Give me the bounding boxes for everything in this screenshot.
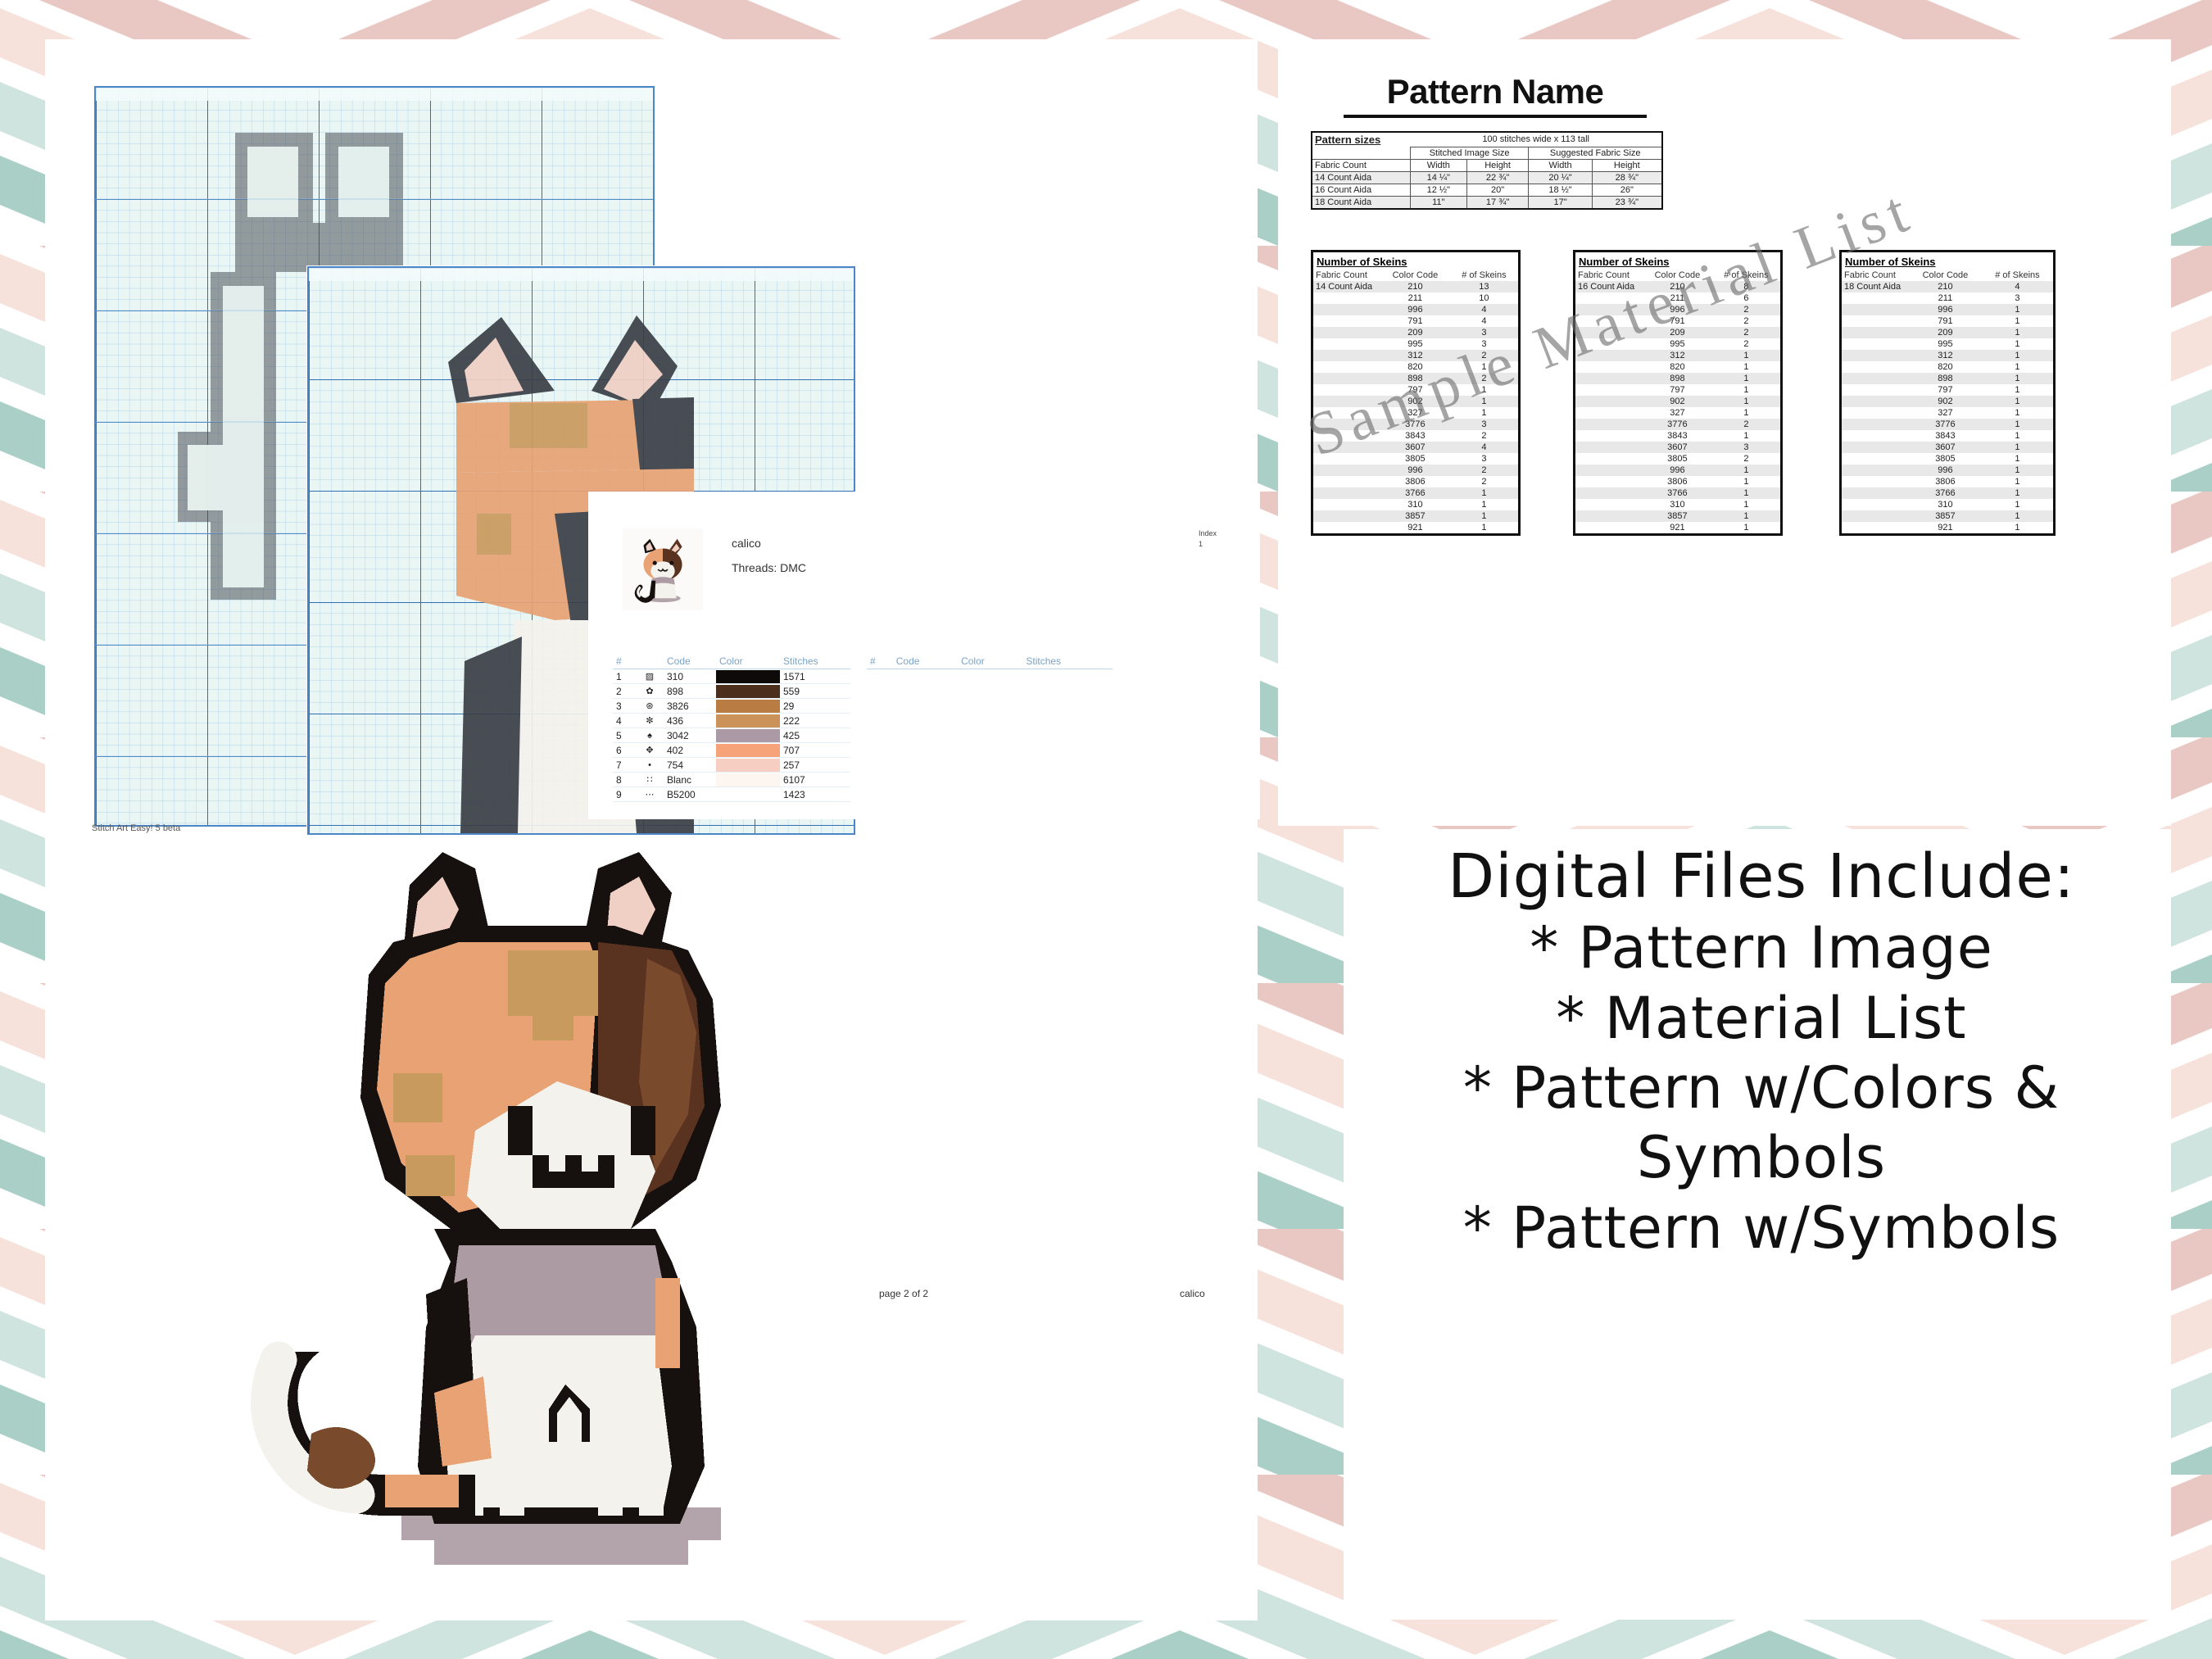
- skeins-cell-fabric: 14 Count Aida: [1313, 281, 1380, 292]
- skeins-cell-count: 1: [1450, 487, 1518, 499]
- skeins-cell-fabric: [1575, 384, 1643, 396]
- skeins-table-18-count: Number of SkeinsFabric CountColor Code# …: [1839, 250, 2056, 536]
- page-title: Pattern Name: [1344, 72, 1647, 118]
- skeins-cell-code: 3607: [1909, 442, 1982, 453]
- skeins-cell-code: 898: [1643, 373, 1712, 384]
- skeins-cell-count: 2: [1712, 327, 1780, 338]
- sizes-cell: 20 ¼": [1529, 171, 1592, 184]
- skeins-cell-fabric: [1842, 292, 1909, 304]
- skeins-row: 37661: [1842, 487, 2053, 499]
- skeins-row: 37661: [1313, 487, 1518, 499]
- skeins-cell-code: 3776: [1909, 419, 1982, 430]
- skeins-row: 8981: [1842, 373, 2053, 384]
- legend-row-symbol-circled-flower-icon: ⊛: [636, 699, 664, 714]
- legend-row-code: B5200: [664, 787, 716, 802]
- legend-row-stitches: 1571: [780, 669, 850, 684]
- skeins-cell-fabric: [1842, 327, 1909, 338]
- skeins-row: 9951: [1842, 338, 2053, 350]
- thread-legend-table: # Code Color Stitches 1▨31015712✿8985593…: [613, 654, 850, 802]
- legend-row: 6✥402707: [613, 743, 850, 758]
- skeins-row: 37761: [1842, 419, 2053, 430]
- skeins-cell-code: 327: [1643, 407, 1712, 419]
- legend-row-stitches: 29: [780, 699, 850, 714]
- skeins-cell-fabric: [1575, 361, 1643, 373]
- skeins-cell-code: 3766: [1909, 487, 1982, 499]
- skeins-cell-count: 8: [1712, 281, 1780, 292]
- legend-row-swatch: [716, 743, 780, 758]
- skeins-cell-count: 1: [1712, 350, 1780, 361]
- skeins-cell-fabric: [1842, 499, 1909, 510]
- legend-row-symbol-dot-icon: •: [636, 758, 664, 773]
- skeins-row: 3271: [1575, 407, 1780, 419]
- skeins-cell-fabric: [1575, 407, 1643, 419]
- skeins-cell-count: 1: [1712, 522, 1780, 533]
- skeins-cell-count: 1: [1982, 304, 2053, 315]
- calico-thumbnail-svg: [623, 528, 703, 610]
- skeins-cell-fabric: [1313, 350, 1380, 361]
- skeins-row: 7914: [1313, 315, 1518, 327]
- skeins-col-count: # of Skeins: [1982, 270, 2053, 281]
- sizes-group-row: Stitched Image Size Suggested Fabric Siz…: [1312, 147, 1662, 159]
- skeins-cell-fabric: [1313, 292, 1380, 304]
- skeins-cell-fabric: [1842, 350, 1909, 361]
- legend-row-number: 8: [613, 773, 636, 787]
- skeins-cell-fabric: [1313, 499, 1380, 510]
- skeins-row: 9021: [1313, 396, 1518, 407]
- legend-row-number: 2: [613, 684, 636, 699]
- skeins-cell-code: 3843: [1380, 430, 1450, 442]
- legend-row-number: 6: [613, 743, 636, 758]
- digital-files-panel: Digital Files Include: * Pattern Image *…: [1360, 840, 2163, 1263]
- skeins-cell-fabric: [1313, 384, 1380, 396]
- skeins-cell-code: 3857: [1909, 510, 1982, 522]
- skeins-cell-fabric: [1575, 476, 1643, 487]
- skeins-cell-fabric: [1842, 419, 1909, 430]
- skeins-row: 38431: [1842, 430, 2053, 442]
- legend-row-swatch: [716, 773, 780, 787]
- skeins-cell-count: 4: [1450, 442, 1518, 453]
- skeins-cell-code: 3766: [1380, 487, 1450, 499]
- skeins-cell-code: 3766: [1643, 487, 1712, 499]
- skeins-row: 38571: [1313, 510, 1518, 522]
- skeins-cell-fabric: [1313, 510, 1380, 522]
- skeins-header-row: Fabric CountColor Code# of Skeins: [1313, 270, 1518, 281]
- skeins-title: Number of Skeins: [1575, 252, 1780, 270]
- skeins-row: 9021: [1575, 396, 1780, 407]
- skeins-cell-code: 3607: [1380, 442, 1450, 453]
- skeins-cell-fabric: [1313, 430, 1380, 442]
- skeins-cell-code: 3805: [1643, 453, 1712, 465]
- skeins-cell-fabric: [1575, 510, 1643, 522]
- skeins-row: 3271: [1313, 407, 1518, 419]
- skeins-row: 9211: [1575, 522, 1780, 533]
- skeins-cell-fabric: [1842, 407, 1909, 419]
- sizes-cell: 14 ¼": [1410, 171, 1466, 184]
- skeins-row: 9211: [1842, 522, 2053, 533]
- skeins-cell-code: 791: [1380, 315, 1450, 327]
- skeins-cell-fabric: [1842, 396, 1909, 407]
- skeins-cell-count: 1: [1982, 338, 2053, 350]
- skeins-cell-code: 209: [1380, 327, 1450, 338]
- skeins-cell-fabric: [1575, 419, 1643, 430]
- skeins-row: 38571: [1842, 510, 2053, 522]
- legend-row-code: Blanc: [664, 773, 716, 787]
- skeins-cell-code: 3843: [1909, 430, 1982, 442]
- cat-art-svg: [205, 852, 803, 1589]
- skeins-cell-code: 898: [1380, 373, 1450, 384]
- skeins-cell-code: 996: [1909, 304, 1982, 315]
- sizes-cell: 18 Count Aida: [1312, 196, 1410, 209]
- legend-row-code: 436: [664, 714, 716, 728]
- skeins-cell-count: 2: [1712, 304, 1780, 315]
- skeins-cell-fabric: [1575, 465, 1643, 476]
- legend-row-stitches: 1423: [780, 787, 850, 802]
- skeins-cell-count: 3: [1982, 292, 2053, 304]
- skeins-cell-code: 820: [1909, 361, 1982, 373]
- skeins-cell-fabric: [1842, 315, 1909, 327]
- legend-row-number: 5: [613, 728, 636, 743]
- skeins-row: 8982: [1313, 373, 1518, 384]
- skeins-row: 2091: [1842, 327, 2053, 338]
- skeins-cell-fabric: [1842, 510, 1909, 522]
- skeins-row: 37762: [1575, 419, 1780, 430]
- skeins-col-code: Color Code: [1380, 270, 1450, 281]
- thread-legend-header-2: # Code Color Stitches: [867, 654, 1113, 669]
- skeins-row: 9962: [1575, 304, 1780, 315]
- skeins-cell-count: 1: [1982, 327, 2053, 338]
- skeins-title: Number of Skeins: [1842, 252, 2053, 270]
- skeins-cell-count: 2: [1712, 453, 1780, 465]
- skeins-row: 2113: [1842, 292, 2053, 304]
- legend-row: 3⊛382629: [613, 699, 850, 714]
- legend-col-stitches: Stitches: [780, 654, 850, 669]
- skeins-table-14-count: Number of SkeinsFabric CountColor Code# …: [1311, 250, 1521, 536]
- skeins-cell-fabric: [1313, 304, 1380, 315]
- sizes-cell: 17 ¾": [1466, 196, 1529, 209]
- legend2-col-number: #: [867, 654, 893, 669]
- skeins-row: 38062: [1313, 476, 1518, 487]
- sizes-col-height-2: Height: [1592, 159, 1662, 171]
- skeins-col-fabric: Fabric Count: [1313, 270, 1380, 281]
- skeins-cell-fabric: [1575, 453, 1643, 465]
- skeins-col-code: Color Code: [1643, 270, 1712, 281]
- skeins-cell-fabric: [1842, 361, 1909, 373]
- skeins-cell-code: 797: [1909, 384, 1982, 396]
- skeins-cell-code: 211: [1909, 292, 1982, 304]
- legend-index: Index 1: [1199, 528, 1217, 550]
- legend-row-number: 1: [613, 669, 636, 684]
- skeins-cell-count: 3: [1450, 338, 1518, 350]
- skeins-cell-code: 3857: [1380, 510, 1450, 522]
- legend-col-number: #: [613, 654, 636, 669]
- skeins-cell-fabric: [1575, 499, 1643, 510]
- skeins-cell-code: 3776: [1380, 419, 1450, 430]
- skeins-cell-count: 1: [1712, 499, 1780, 510]
- page-name-footer: calico: [1180, 1288, 1205, 1299]
- skeins-cell-count: 1: [1450, 510, 1518, 522]
- skeins-cell-fabric: [1313, 315, 1380, 327]
- legend-row-swatch: [716, 699, 780, 714]
- legend-row-stitches: 425: [780, 728, 850, 743]
- skeins-cell-code: 820: [1380, 361, 1450, 373]
- skeins-row: 36074: [1313, 442, 1518, 453]
- skeins-cell-fabric: [1842, 476, 1909, 487]
- skeins-cell-count: 1: [1712, 510, 1780, 522]
- skeins-cell-count: 1: [1982, 350, 2053, 361]
- skeins-cell-code: 310: [1909, 499, 1982, 510]
- skeins-header-row: Fabric CountColor Code# of Skeins: [1575, 270, 1780, 281]
- legend-threads-label: Threads: DMC: [732, 561, 806, 574]
- skeins-row: 38061: [1575, 476, 1780, 487]
- legend-row-symbol-double-dot-icon: ∷: [636, 773, 664, 787]
- legend-row-code: 402: [664, 743, 716, 758]
- thread-legend-body: 1▨31015712✿8985593⊛3826294✼4362225♠30424…: [613, 669, 850, 802]
- skeins-cell-code: 902: [1380, 396, 1450, 407]
- skeins-cell-count: 1: [1982, 361, 2053, 373]
- skeins-row: 8981: [1575, 373, 1780, 384]
- skeins-cell-code: 327: [1380, 407, 1450, 419]
- skeins-cell-code: 210: [1643, 281, 1712, 292]
- pattern-sizes-body: 14 Count Aida14 ¼"22 ¾"20 ¼"28 ¾"16 Coun…: [1312, 171, 1662, 209]
- skeins-cell-code: 996: [1643, 304, 1712, 315]
- skeins-cell-fabric: [1313, 453, 1380, 465]
- skeins-cell-count: 1: [1982, 315, 2053, 327]
- skeins-col-count: # of Skeins: [1450, 270, 1518, 281]
- skeins-row: 7971: [1313, 384, 1518, 396]
- skeins-cell-count: 6: [1712, 292, 1780, 304]
- skeins-cell-count: 1: [1982, 419, 2053, 430]
- skeins-row: 3121: [1575, 350, 1780, 361]
- sizes-caption: Pattern sizes: [1312, 132, 1410, 147]
- skeins-cell-code: 797: [1380, 384, 1450, 396]
- legend-row-symbol-checker-square-icon: ▨: [636, 669, 664, 684]
- skeins-cell-code: 791: [1909, 315, 1982, 327]
- skeins-cell-count: 1: [1982, 476, 2053, 487]
- skeins-col-count: # of Skeins: [1712, 270, 1780, 281]
- skeins-cell-fabric: [1842, 373, 1909, 384]
- skeins-cell-fabric: [1575, 373, 1643, 384]
- legend-row: 4✼436222: [613, 714, 850, 728]
- skeins-col-fabric: Fabric Count: [1575, 270, 1643, 281]
- legend-row-swatch: [716, 758, 780, 773]
- skeins-cell-code: 996: [1380, 465, 1450, 476]
- legend-row-swatch: [716, 714, 780, 728]
- legend-row-stitches: 222: [780, 714, 850, 728]
- skeins-cell-code: 312: [1909, 350, 1982, 361]
- skeins-cell-count: 1: [1712, 407, 1780, 419]
- legend2-col-stitches: Stitches: [1022, 654, 1113, 669]
- skeins-row: 9952: [1575, 338, 1780, 350]
- skeins-cell-count: 1: [1982, 487, 2053, 499]
- skeins-row: 38432: [1313, 430, 1518, 442]
- skeins-cell-code: 995: [1909, 338, 1982, 350]
- legend-col-color: Color: [716, 654, 780, 669]
- skeins-cell-code: 921: [1909, 522, 1982, 533]
- legend-row-swatch: [716, 787, 780, 802]
- skeins-cell-count: 4: [1450, 304, 1518, 315]
- sizes-cell: 23 ¾": [1592, 196, 1662, 209]
- legend-row-code: 3826: [664, 699, 716, 714]
- skeins-cell-count: 3: [1450, 419, 1518, 430]
- skeins-cell-fabric: [1313, 407, 1380, 419]
- legend-row-number: 9: [613, 787, 636, 802]
- skeins-cell-fabric: [1842, 384, 1909, 396]
- skeins-cell-fabric: [1313, 522, 1380, 533]
- skeins-row: 3122: [1313, 350, 1518, 361]
- files-item-pattern-symbols: * Pattern w/Symbols: [1360, 1194, 2163, 1263]
- sizes-cell: 20": [1466, 184, 1529, 196]
- legend2-col-color: Color: [958, 654, 1022, 669]
- skeins-cell-code: 996: [1909, 465, 1982, 476]
- skeins-row: 16 Count Aida2108: [1575, 281, 1780, 292]
- skeins-cell-code: 3857: [1643, 510, 1712, 522]
- skeins-cell-fabric: 18 Count Aida: [1842, 281, 1909, 292]
- sizes-row: 14 Count Aida14 ¼"22 ¾"20 ¼"28 ¾": [1312, 171, 1662, 184]
- legend-row: 2✿898559: [613, 684, 850, 699]
- software-note: Stitch Art Easy! 5 beta: [92, 823, 180, 833]
- sizes-cell: 22 ¾": [1466, 171, 1529, 184]
- skeins-cell-count: 1: [1712, 384, 1780, 396]
- legend-row: 5♠3042425: [613, 728, 850, 743]
- sizes-column-row: Fabric Count Width Height Width Height: [1312, 159, 1662, 171]
- skeins-cell-count: 1: [1982, 396, 2053, 407]
- sizes-cell: 14 Count Aida: [1312, 171, 1410, 184]
- skeins-cell-count: 3: [1450, 453, 1518, 465]
- skeins-cell-count: 1: [1712, 476, 1780, 487]
- sizes-cell: 28 ¾": [1592, 171, 1662, 184]
- skeins-cell-code: 3806: [1909, 476, 1982, 487]
- sizes-cell: 12 ½": [1410, 184, 1466, 196]
- skeins-table-16-count: Number of SkeinsFabric CountColor Code# …: [1573, 250, 1783, 536]
- skeins-cell-code: 210: [1380, 281, 1450, 292]
- skeins-row: 7911: [1842, 315, 2053, 327]
- skeins-row: 2116: [1575, 292, 1780, 304]
- files-heading: Digital Files Include:: [1360, 840, 2163, 913]
- legend2-col-code: Code: [893, 654, 958, 669]
- skeins-cell-fabric: 16 Count Aida: [1575, 281, 1643, 292]
- skeins-cell-fabric: [1842, 465, 1909, 476]
- pattern-thumbnail: [623, 528, 703, 610]
- skeins-cell-fabric: [1575, 350, 1643, 361]
- skeins-cell-code: 3805: [1380, 453, 1450, 465]
- skeins-cell-code: 820: [1643, 361, 1712, 373]
- skeins-row: 21110: [1313, 292, 1518, 304]
- skeins-cell-count: 1: [1712, 430, 1780, 442]
- skeins-cell-count: 2: [1712, 338, 1780, 350]
- skeins-cell-code: 921: [1380, 522, 1450, 533]
- pattern-sizes-table: Pattern sizes 100 stitches wide x 113 ta…: [1311, 131, 1663, 210]
- legend-row-code: 898: [664, 684, 716, 699]
- skeins-row: 36073: [1575, 442, 1780, 453]
- calico-cat-pixel-art: [205, 852, 803, 1589]
- skeins-cell-fabric: [1575, 304, 1643, 315]
- skeins-row: 9964: [1313, 304, 1518, 315]
- skeins-cell-count: 1: [1450, 361, 1518, 373]
- skeins-cell-count: 1: [1712, 361, 1780, 373]
- skeins-row: 38051: [1842, 453, 2053, 465]
- legend-row-symbol-bowtie-icon: ✥: [636, 743, 664, 758]
- legend-row-symbol-clover-icon: ✿: [636, 684, 664, 699]
- skeins-cell-fabric: [1313, 465, 1380, 476]
- skeins-cell-fabric: [1313, 338, 1380, 350]
- sizes-col-height-1: Height: [1466, 159, 1529, 171]
- skeins-cell-fabric: [1842, 453, 1909, 465]
- legend-col-code: Code: [664, 654, 716, 669]
- page-number-footer: page 2 of 2: [879, 1288, 928, 1299]
- skeins-cell-code: 996: [1643, 465, 1712, 476]
- skeins-cell-fabric: [1575, 315, 1643, 327]
- sizes-cell: 26": [1592, 184, 1662, 196]
- skeins-row: 37661: [1575, 487, 1780, 499]
- skeins-cell-count: 1: [1450, 407, 1518, 419]
- skeins-cell-count: 1: [1982, 510, 2053, 522]
- skeins-row: 8201: [1313, 361, 1518, 373]
- skeins-cell-code: 312: [1380, 350, 1450, 361]
- skeins-cell-code: 210: [1909, 281, 1982, 292]
- skeins-cell-count: 1: [1712, 373, 1780, 384]
- skeins-row: 38053: [1313, 453, 1518, 465]
- sizes-col-width-1: Width: [1410, 159, 1466, 171]
- legend-pattern-name: calico: [732, 537, 761, 550]
- skeins-cell-code: 3776: [1643, 419, 1712, 430]
- skeins-row: 3101: [1575, 499, 1780, 510]
- skeins-cell-code: 209: [1643, 327, 1712, 338]
- skeins-row: 8201: [1842, 361, 2053, 373]
- skeins-row: 37763: [1313, 419, 1518, 430]
- skeins-cell-code: 211: [1643, 292, 1712, 304]
- legend-row-swatch: [716, 728, 780, 743]
- skeins-cell-count: 2: [1450, 476, 1518, 487]
- legend-row-code: 754: [664, 758, 716, 773]
- sizes-group-stitched: Stitched Image Size: [1410, 147, 1529, 159]
- legend-row-symbol-triple-dot-icon: ⋯: [636, 787, 664, 802]
- skeins-cell-count: 3: [1712, 442, 1780, 453]
- legend-row-symbol-star-burst-icon: ✼: [636, 714, 664, 728]
- skeins-header-row: Fabric CountColor Code# of Skeins: [1842, 270, 2053, 281]
- legend-row-swatch: [716, 669, 780, 684]
- skeins-cell-code: 3806: [1380, 476, 1450, 487]
- skeins-cell-fabric: [1575, 292, 1643, 304]
- thread-legend-header: # Code Color Stitches: [613, 654, 850, 669]
- skeins-cell-count: 1: [1982, 453, 2053, 465]
- skeins-row: 9021: [1842, 396, 2053, 407]
- skeins-row: 38052: [1575, 453, 1780, 465]
- legend-index-label: Index: [1199, 529, 1217, 537]
- skeins-row: 9961: [1575, 465, 1780, 476]
- skeins-title: Number of Skeins: [1313, 252, 1518, 270]
- skeins-row: 14 Count Aida21013: [1313, 281, 1518, 292]
- files-item-symbols: Symbols: [1360, 1123, 2163, 1193]
- skeins-row: 3121: [1842, 350, 2053, 361]
- skeins-cell-count: 1: [1982, 442, 2053, 453]
- skeins-cell-count: 3: [1450, 327, 1518, 338]
- skeins-cell-count: 1: [1982, 373, 2053, 384]
- skeins-cell-count: 2: [1450, 430, 1518, 442]
- sizes-cell: 17": [1529, 196, 1592, 209]
- skeins-cell-fabric: [1575, 430, 1643, 442]
- skeins-cell-fabric: [1313, 327, 1380, 338]
- skeins-cell-code: 996: [1380, 304, 1450, 315]
- skeins-cell-fabric: [1842, 430, 1909, 442]
- skeins-cell-code: 898: [1909, 373, 1982, 384]
- skeins-cell-count: 1: [1982, 407, 2053, 419]
- skeins-row: 2093: [1313, 327, 1518, 338]
- skeins-cell-count: 2: [1450, 465, 1518, 476]
- skeins-cell-count: 1: [1982, 522, 2053, 533]
- skeins-cell-code: 797: [1643, 384, 1712, 396]
- skeins-cell-code: 791: [1643, 315, 1712, 327]
- legend-row-stitches: 257: [780, 758, 850, 773]
